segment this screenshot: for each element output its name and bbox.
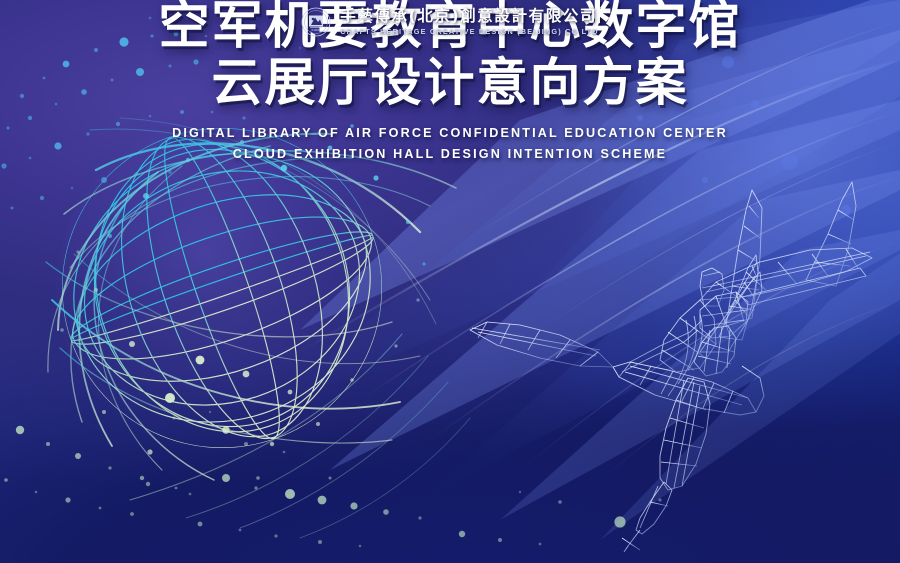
company-name-cn: 手藝傳承(北京)創意設計有限公司 (340, 9, 599, 25)
svg-text:CHCD: CHCD (312, 28, 321, 32)
brand-text: 手藝傳承(北京)創意設計有限公司 CRAFTS HERITAGE CREATIV… (340, 9, 599, 36)
poster-canvas: 空军机要教育中心数字馆 云展厅设计意向方案 DIGITAL LIBRARY OF… (0, 0, 900, 563)
company-name-en: CRAFTS HERITAGE CREATIVE DESIGN (BEIJING… (340, 28, 599, 35)
footer-brand: CHCD 手藝傳承(北京)創意設計有限公司 CRAFTS HERITAGE CR… (0, 0, 900, 44)
wireframe-fighter-jet-icon (0, 0, 900, 563)
crafts-heritage-seal-icon: CHCD (301, 7, 331, 37)
